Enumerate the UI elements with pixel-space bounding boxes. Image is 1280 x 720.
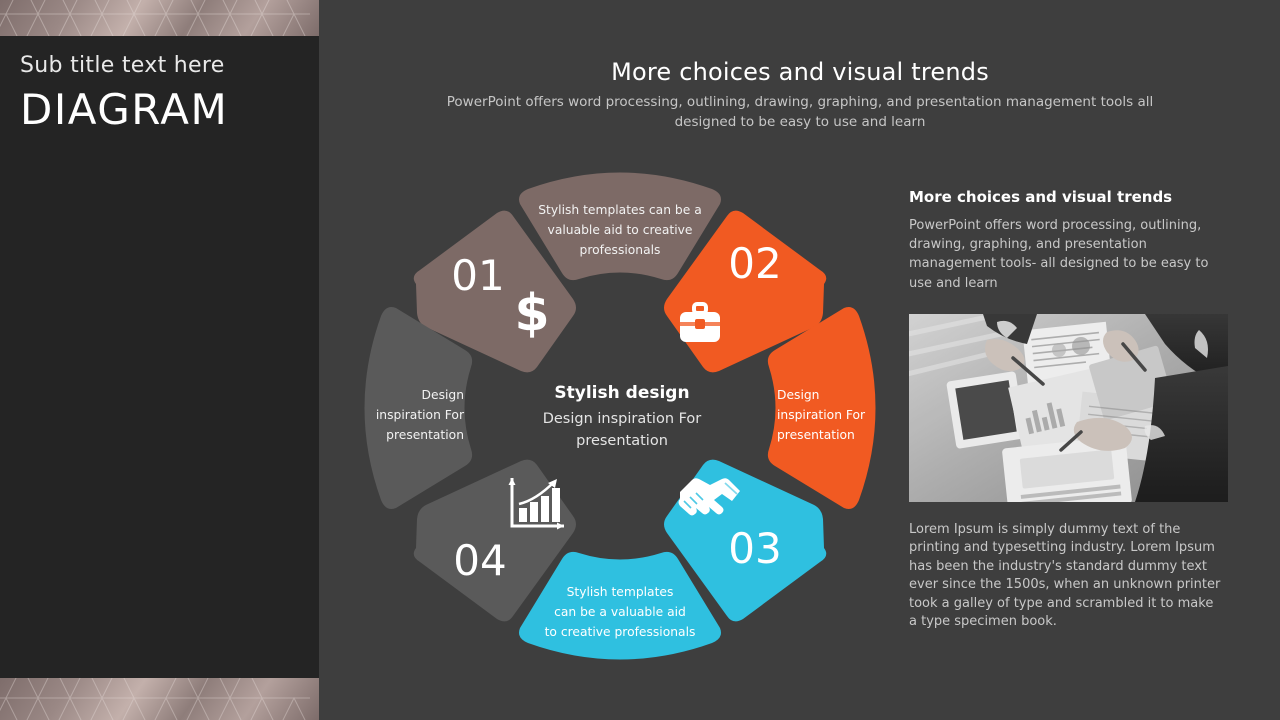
business-meeting-photo	[909, 314, 1228, 502]
slide-header: More choices and visual trends PowerPoin…	[340, 58, 1260, 133]
decorative-triangle-strip-top	[0, 0, 319, 36]
callout-top[interactable]: Stylish templates can be a valuable aid …	[519, 173, 721, 281]
diagram-svg: 01 $ Stylish templates can be a valuable…	[360, 168, 880, 664]
center-subtitle-line-2: presentation	[576, 433, 668, 449]
sidebar-main-title: DIAGRAM	[20, 86, 300, 134]
diagram-center-text: Stylish design Design inspiration For pr…	[543, 383, 702, 449]
callout-right-line-2: inspiration For	[777, 408, 866, 422]
header-subtitle: PowerPoint offers word processing, outli…	[420, 92, 1180, 133]
callout-bottom-line-2: can be a valuable aid	[554, 605, 686, 619]
callout-bottom-line-1: Stylish templates	[567, 585, 674, 599]
callout-top-line-3: professionals	[580, 243, 661, 257]
callout-right-line-3: presentation	[777, 428, 855, 442]
center-title: Stylish design	[554, 383, 689, 403]
callout-bottom[interactable]: Stylish templates can be a valuable aid …	[519, 552, 721, 660]
callout-left-line-1: Design	[422, 388, 464, 402]
callout-top-line-1: Stylish templates can be a	[538, 203, 702, 217]
callout-right-line-1: Design	[777, 388, 819, 402]
triangle-pattern-bottom	[0, 678, 319, 720]
sidebar: Sub title text here DIAGRAM	[0, 0, 319, 720]
sidebar-title-group: Sub title text here DIAGRAM	[20, 52, 300, 134]
right-panel-body: PowerPoint offers word processing, outli…	[909, 216, 1229, 293]
slide-canvas: Sub title text here DIAGRAM	[0, 0, 1280, 720]
segment-01-number: 01	[451, 251, 504, 300]
dollar-icon: $	[514, 283, 549, 342]
callout-left-line-2: inspiration For	[376, 408, 465, 422]
decorative-triangle-strip-bottom	[0, 678, 319, 720]
triangle-pattern-top	[0, 0, 319, 36]
right-panel-title: More choices and visual trends	[909, 188, 1229, 206]
svg-text:$: $	[514, 283, 549, 342]
callout-bottom-line-3: to creative professionals	[545, 625, 696, 639]
circular-diagram: 01 $ Stylish templates can be a valuable…	[360, 168, 880, 664]
header-title: More choices and visual trends	[340, 58, 1260, 86]
segment-04-number: 04	[453, 536, 506, 585]
segment-03-number: 03	[728, 524, 781, 573]
callout-left-line-3: presentation	[386, 428, 464, 442]
photo-illustration	[909, 314, 1228, 502]
right-text-panel: More choices and visual trends PowerPoin…	[909, 188, 1229, 293]
center-subtitle-line-1: Design inspiration For	[543, 411, 702, 427]
callout-top-line-2: valuable aid to creative	[548, 223, 693, 237]
sidebar-subtitle: Sub title text here	[20, 52, 300, 80]
segment-02-number: 02	[728, 239, 781, 288]
right-panel-caption: Lorem Ipsum is simply dummy text of the …	[909, 521, 1221, 632]
